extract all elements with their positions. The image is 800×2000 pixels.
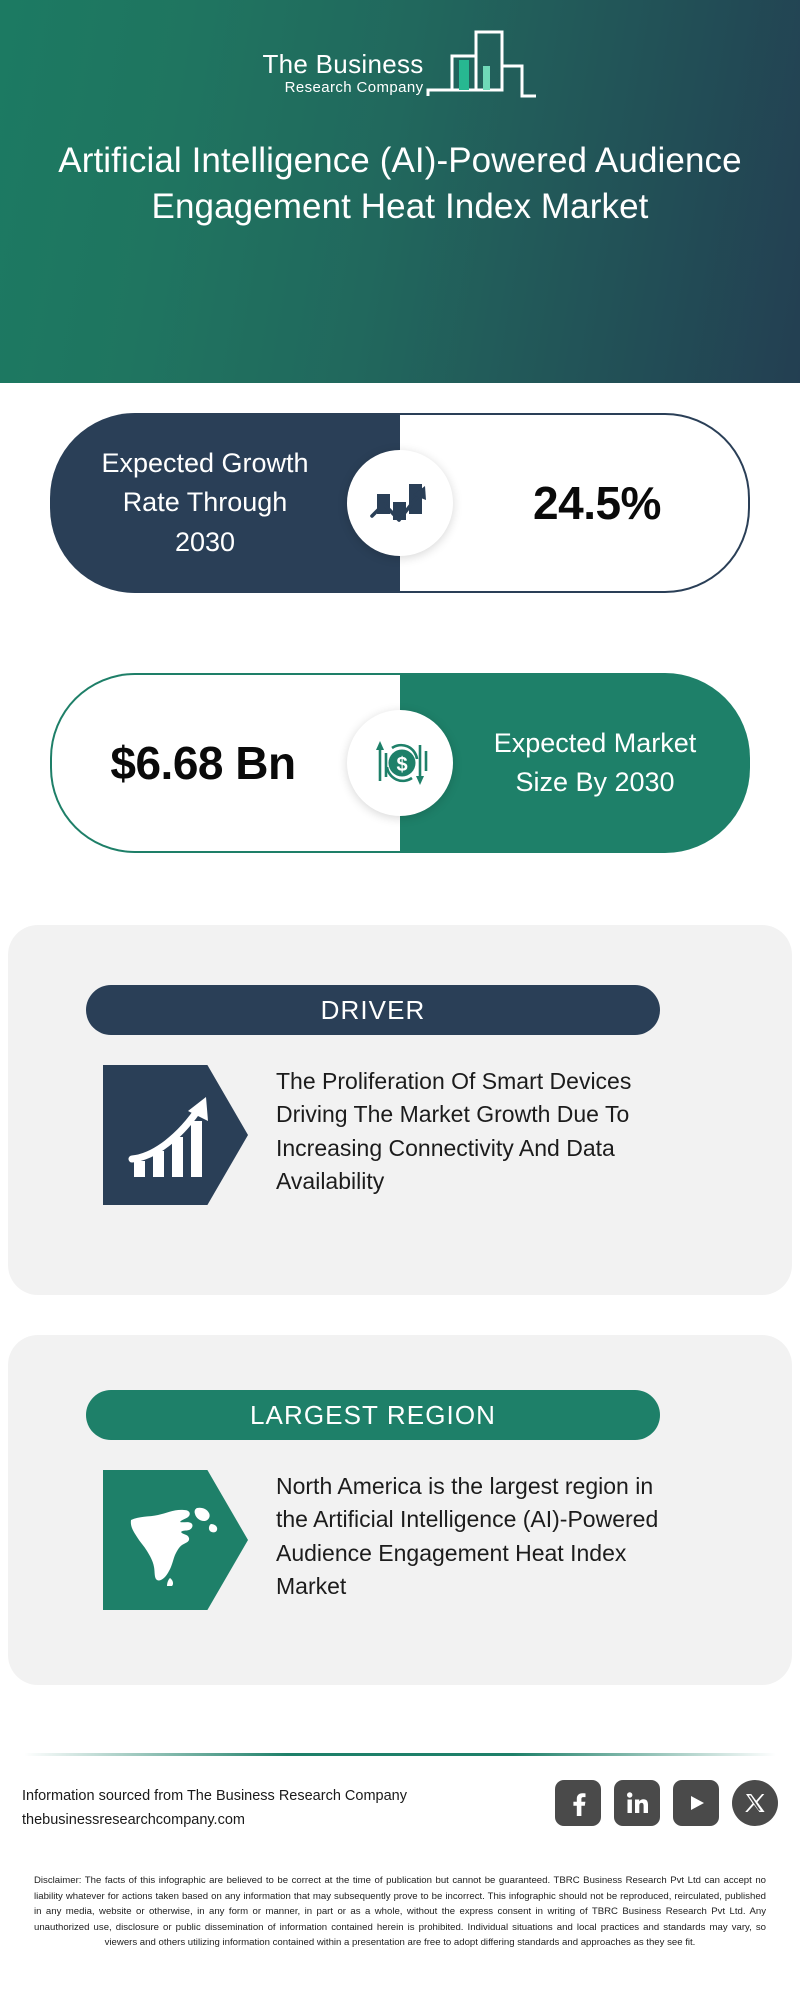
largest-region-pill-label: LARGEST REGION bbox=[250, 1400, 496, 1431]
source-line-1: Information sourced from The Business Re… bbox=[22, 1785, 492, 1809]
stat-value-text: $6.68 Bn bbox=[110, 736, 341, 790]
driver-pill: DRIVER bbox=[86, 985, 660, 1035]
source-attribution: Information sourced from The Business Re… bbox=[22, 1785, 492, 1833]
facebook-glyph bbox=[565, 1790, 591, 1816]
logo-primary-text: The Business bbox=[262, 51, 423, 78]
stat-card-growth-rate: Expected Growth Rate Through 2030 24.5% bbox=[50, 413, 750, 593]
stat-label-text: Expected Market Size By 2030 bbox=[450, 724, 700, 802]
region-icon-tile bbox=[103, 1470, 248, 1610]
rising-bar-chart-arrow-icon bbox=[128, 1089, 223, 1181]
header-banner: The Business Research Company Artificial… bbox=[0, 0, 800, 383]
facebook-icon[interactable] bbox=[555, 1780, 601, 1826]
stat-icon-badge bbox=[347, 450, 453, 556]
bar-chart-logo-mark bbox=[426, 28, 538, 104]
largest-region-panel: LARGEST REGION North America is the larg… bbox=[8, 1335, 792, 1685]
x-twitter-icon[interactable] bbox=[732, 1780, 778, 1826]
logo-text-block: The Business Research Company bbox=[262, 51, 423, 104]
linkedin-icon[interactable] bbox=[614, 1780, 660, 1826]
company-logo: The Business Research Company bbox=[262, 24, 537, 104]
largest-region-pill: LARGEST REGION bbox=[86, 1390, 660, 1440]
disclaimer-text: Disclaimer: The facts of this infographi… bbox=[34, 1873, 766, 1951]
stat-card-market-size: $6.68 Bn Expected Market Size By 2030 $ bbox=[50, 673, 750, 853]
stat-label-text: Expected Growth Rate Through 2030 bbox=[100, 444, 350, 561]
growth-bar-chart-arrow-icon bbox=[369, 476, 431, 530]
logo-secondary-text: Research Company bbox=[285, 79, 424, 96]
north-america-map-icon bbox=[125, 1494, 227, 1586]
driver-icon-tile bbox=[103, 1065, 248, 1205]
youtube-glyph bbox=[682, 1792, 710, 1814]
infographic-page: The Business Research Company Artificial… bbox=[0, 0, 800, 2000]
svg-text:$: $ bbox=[396, 754, 407, 776]
driver-body: The Proliferation Of Smart Devices Drivi… bbox=[103, 1065, 671, 1205]
dollar-circular-arrows-icon: $ bbox=[368, 733, 432, 793]
largest-region-text: North America is the largest region in t… bbox=[276, 1470, 671, 1603]
page-title: Artificial Intelligence (AI)-Powered Aud… bbox=[50, 138, 750, 229]
driver-text: The Proliferation Of Smart Devices Drivi… bbox=[276, 1065, 671, 1198]
youtube-icon[interactable] bbox=[673, 1780, 719, 1826]
linkedin-glyph bbox=[624, 1790, 650, 1816]
source-website[interactable]: thebusinessresearchcompany.com bbox=[22, 1809, 492, 1833]
stat-value-text: 24.5% bbox=[487, 476, 661, 530]
driver-panel: DRIVER The Proliferation Of Smart Device… bbox=[8, 925, 792, 1295]
social-links bbox=[555, 1780, 778, 1826]
stat-icon-badge: $ bbox=[347, 710, 453, 816]
driver-pill-label: DRIVER bbox=[321, 995, 426, 1026]
x-twitter-glyph bbox=[742, 1790, 768, 1816]
footer-divider bbox=[24, 1753, 776, 1756]
largest-region-body: North America is the largest region in t… bbox=[103, 1470, 671, 1610]
